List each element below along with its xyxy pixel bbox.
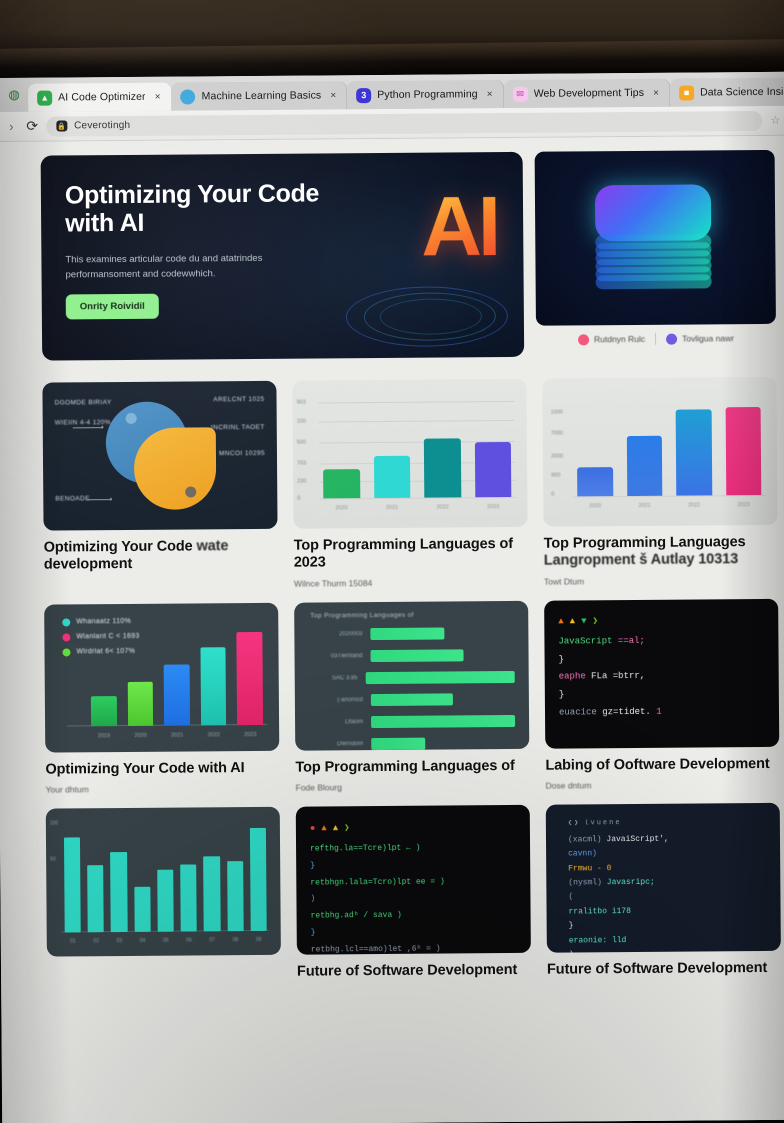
x-tick-label: 08 — [227, 937, 243, 943]
legend-label: Whanaatz 110% — [76, 618, 131, 625]
y-tick-label: 230 — [297, 478, 306, 484]
bar — [474, 442, 511, 497]
x-tick-label: 2022 — [676, 502, 712, 508]
bar — [203, 856, 220, 932]
legend-dot-icon — [578, 334, 589, 345]
bar — [366, 671, 515, 684]
stack-cube-graphic — [595, 184, 716, 281]
y-tick-label: 900 — [551, 472, 560, 478]
x-tick-label: 2021 — [164, 732, 190, 738]
hero-cta-button[interactable]: Onrity Roividil — [66, 294, 159, 320]
code-line: (xacml) JavaiScript', — [568, 832, 766, 848]
code-line: } — [311, 924, 517, 942]
close-icon[interactable]: × — [484, 89, 496, 100]
x-tick-label: 2023 — [238, 732, 264, 738]
close-icon[interactable]: × — [650, 87, 662, 98]
bar — [227, 861, 244, 931]
card-python-diagram[interactable]: DGOMDE BIRIAY WIEIIN 4-4 120% ARELCNT 10… — [42, 381, 278, 591]
bar-row: (-anorncd — [309, 693, 515, 708]
code-block: ●▲ ▲❯ refthg.la==Tcre)lpt ← ) } retbhgn.… — [296, 805, 531, 955]
chart-bars: 2020003 03Tlernland SAC 3.85 — [308, 627, 515, 751]
chart-bars — [577, 399, 762, 496]
bar-row: SAC 3.85 — [309, 671, 515, 686]
y-tick-label: Dferndom — [309, 741, 363, 747]
dark-legend-bar-chart: Whanaatz 110% Wlanlarit C < 1693 Wlrdrla… — [44, 603, 279, 753]
code-block: ▲▲ ▼❯ JavaScript ==al; } eaphe FLa =btrr… — [544, 599, 779, 749]
code-line: ) — [310, 890, 516, 908]
address-bar[interactable]: 🔒 Ceverotingh — [46, 110, 763, 136]
x-tick-label: 06 — [181, 938, 197, 944]
x-tick-labels: 2019 2020 2021 2022 2023 — [91, 732, 263, 739]
page-content: Optimizing Your Code with AI This examin… — [0, 136, 784, 1123]
tab-title: Machine Learning Basics — [202, 89, 322, 102]
bar — [91, 696, 117, 726]
x-tick-labels: 2020 2021 2022 2023 — [577, 502, 761, 509]
x-tick-label: 02 — [88, 938, 104, 944]
legend-dot-icon — [666, 333, 677, 344]
tab-machine-learning-basics[interactable]: Machine Learning Basics × — [172, 81, 348, 110]
code-line: retbhg.adʰ / sava ) — [311, 907, 517, 925]
legend-dot-icon — [62, 618, 70, 626]
annotation-label: INCRINL TAOET — [211, 423, 265, 433]
tab-data-science-insights[interactable]: ■ Data Science Insights — [670, 78, 784, 107]
tab-title: AI Code Optimizer — [58, 91, 146, 104]
chart-bars — [90, 627, 263, 726]
python-logo-icon — [104, 401, 217, 510]
y-tick-label: 50 — [50, 857, 56, 863]
y-tick-label: Lflaom — [309, 719, 363, 725]
window-dots-icon: ❮❯lvuene — [568, 816, 766, 830]
card-subtitle: Your dhtum — [46, 783, 280, 795]
x-tick-label: 2020 — [577, 503, 613, 509]
bar — [371, 694, 453, 707]
code-line: ( — [568, 889, 766, 905]
x-tick-label: 07 — [204, 937, 220, 943]
y-tick-label: 2000 — [551, 453, 563, 459]
chart-bars — [323, 401, 512, 498]
y-tick-label: 7000 — [551, 430, 563, 436]
legend-item: Whanaatz 110% — [62, 618, 139, 627]
teal-bar-chart: 100 50 — [46, 807, 281, 957]
hero-banner[interactable]: Optimizing Your Code with AI This examin… — [41, 152, 525, 361]
code-block: ❮❯lvuene (xacml) JavaiScript', cavnn) Fr… — [546, 803, 781, 953]
card-title: Optimizing Your Code with AI — [45, 760, 279, 779]
legend-dot-icon — [62, 633, 70, 641]
mail-pink-icon: ✉ — [513, 86, 528, 101]
code-line: eraonie: lld — [569, 932, 767, 948]
y-tick-label: 03Tlernland — [309, 653, 363, 659]
close-icon[interactable]: × — [327, 90, 339, 101]
y-tick-label: 500 — [297, 440, 306, 446]
light-bar-chart: 903 100 500 703 230 0 — [292, 379, 527, 529]
code-line: } — [569, 918, 767, 934]
green-code-snippet: ●▲ ▲❯ refthg.la==Tcre)lpt ← ) } retbhgn.… — [296, 805, 531, 955]
annotation-label: MNCOI 10295 — [219, 449, 265, 459]
bar — [676, 409, 712, 496]
y-tick-label: 1000 — [551, 409, 563, 415]
bar — [237, 632, 263, 725]
python-logo-diagram: DGOMDE BIRIAY WIEIIN 4-4 120% ARELCNT 10… — [42, 381, 277, 531]
article-grid: DGOMDE BIRIAY WIEIIN 4-4 120% ARELCNT 10… — [42, 377, 781, 983]
bookmark-star-icon[interactable]: ☆ — [770, 114, 780, 127]
card-title-main: Optimizing Your Code — [44, 538, 193, 555]
code-line: retbhg.lcl==amo)let ,6ʰ = ) — [311, 941, 517, 955]
lock-icon: 🔒 — [56, 120, 67, 131]
hero-row: Optimizing Your Code with AI This examin… — [41, 150, 777, 361]
reload-icon[interactable]: ⟳ — [26, 118, 38, 135]
card-horizontal-bar-chart[interactable]: Top Programming Languages of 2020003 03T… — [294, 601, 529, 793]
tab-web-development-tips[interactable]: ✉ Web Development Tips × — [504, 79, 671, 108]
browser-window: ◍ ▲ AI Code Optimizer × Machine Learning… — [0, 72, 784, 1123]
bar-row: 03Tlernland — [309, 649, 515, 664]
bar — [323, 469, 360, 498]
code-line: euacice gz=tidet. 1 — [559, 702, 765, 721]
hero-title: Optimizing Your Code with AI — [65, 179, 345, 237]
card-title — [47, 964, 281, 966]
tab-python-programming[interactable]: 3 Python Programming × — [347, 80, 504, 109]
x-tick-label: 01 — [65, 939, 81, 945]
x-tick-label: 05 — [158, 938, 174, 944]
x-tick-label: 04 — [134, 938, 150, 944]
tab-title: Data Science Insights — [700, 86, 784, 99]
chart-plot-area: 903 100 500 703 230 0 — [319, 401, 516, 499]
card-subtitle: Fode Blourg — [296, 781, 530, 793]
card-dark-bar-chart[interactable]: Whanaatz 110% Wlanlarit C < 1693 Wlrdrla… — [44, 603, 279, 795]
window-dots-icon: ▲▲ ▼❯ — [558, 612, 764, 631]
card-title: Top Programming Languages Langropment š … — [544, 534, 778, 571]
number-badge-icon: 3 — [356, 88, 371, 103]
code-line: eaphe FLa =btrr, — [559, 667, 765, 686]
tab-title: Web Development Tips — [534, 87, 644, 100]
card-teal-bar-chart[interactable]: 100 50 — [46, 807, 281, 983]
legend-dot-icon — [62, 648, 70, 656]
x-tick-label: 2021 — [374, 505, 411, 511]
bar — [111, 852, 128, 932]
y-tick-label: SAC 3.85 — [309, 675, 358, 681]
card-title: Optimizing Your Code wate development — [44, 538, 278, 575]
code-line: Frmwu - 0 — [568, 861, 766, 877]
side-card-legend: Rutdnyn Rulc Tovligua nawr — [536, 330, 776, 346]
bar — [200, 648, 226, 726]
extension-icon[interactable]: ◍ — [0, 78, 28, 112]
x-tick-labels: 2020 2021 2022 2023 — [323, 504, 511, 511]
legend-item: Rutdnyn Rulc — [578, 333, 645, 345]
hero-body: This examines articular code du and atat… — [65, 252, 280, 283]
code-line: JavaScript ==al; — [558, 632, 764, 651]
card-title: Future of Software Development — [547, 960, 781, 979]
bar-row: Dferndom — [309, 737, 515, 751]
card-title-fuzzy: Langropment š Autlay 10313 — [544, 552, 738, 570]
card-title-main: Top Programming Languages — [544, 534, 746, 552]
globe-blue-icon — [181, 89, 196, 104]
bar — [87, 865, 104, 932]
tab-ai-code-optimizer[interactable]: ▲ AI Code Optimizer × — [28, 83, 172, 112]
tab-title: Python Programming — [377, 88, 478, 101]
x-tick-label: 2023 — [726, 502, 762, 508]
bar — [725, 407, 761, 496]
bar — [127, 681, 153, 725]
y-tick-label: 703 — [297, 461, 306, 467]
card-subtitle: Dose dntum — [546, 779, 780, 791]
x-tick-label: 2019 — [91, 733, 117, 739]
x-tick-label: 2020 — [323, 505, 360, 511]
x-tick-label: 2022 — [201, 732, 227, 738]
code-line: (nysml) Javasripc; — [568, 875, 766, 891]
chart-title: Top Programming Languages of — [310, 611, 414, 619]
bar — [577, 467, 613, 496]
y-tick-label: 100 — [50, 821, 58, 827]
card-gradient-bar-chart[interactable]: 1000 7000 2000 900 0 — [542, 377, 778, 587]
code-line: cavnn) — [568, 846, 766, 862]
bar — [180, 865, 197, 932]
y-tick-label: 0 — [551, 492, 554, 498]
close-icon[interactable]: × — [152, 91, 164, 102]
chart-bars — [64, 823, 267, 933]
bar — [373, 456, 410, 499]
card-light-bar-chart[interactable]: 903 100 500 703 230 0 — [292, 379, 528, 589]
code-line: } — [310, 857, 516, 875]
ai-artwork: AI — [316, 162, 525, 354]
orange-badge-icon: ■ — [679, 85, 694, 100]
code-line: } — [559, 685, 765, 704]
card-title: Labing of Ooftware Development — [545, 756, 779, 775]
divider — [655, 333, 656, 345]
code-line: } — [559, 650, 765, 669]
x-tick-label: 2023 — [475, 504, 512, 510]
chart-plot-area: 1000 7000 2000 900 0 — [573, 399, 766, 497]
javascript-code-snippet: ▲▲ ▼❯ JavaScript ==al; } eaphe FLa =btrr… — [544, 599, 779, 749]
bar — [371, 715, 515, 728]
annotation-label: BENOADE — [55, 495, 90, 505]
bar — [370, 628, 444, 641]
bar — [134, 887, 151, 932]
bar-row: 2020003 — [308, 627, 514, 642]
y-tick-label: 2020003 — [308, 631, 362, 637]
bar — [424, 439, 461, 498]
legend-item: Tovligua nawr — [666, 333, 734, 345]
x-tick-label: 2022 — [424, 504, 461, 510]
card-title: Top Programming Languages of — [295, 758, 529, 777]
horizontal-bar-chart: Top Programming Languages of 2020003 03T… — [294, 601, 529, 751]
bar — [157, 869, 174, 932]
navy-code-snippet: ❮❯lvuene (xacml) JavaiScript', cavnn) Fr… — [546, 803, 781, 953]
legend-label: Rutdnyn Rulc — [594, 334, 645, 344]
bar — [164, 665, 190, 726]
x-tick-label: 09 — [251, 937, 267, 943]
y-tick-label: 100 — [297, 419, 306, 425]
x-tick-label: 2021 — [627, 503, 663, 509]
window-dots-icon: ●▲ ▲❯ — [310, 818, 516, 839]
gradient-bar-chart: 1000 7000 2000 900 0 — [542, 377, 777, 527]
code-line: rralitbo i178 — [569, 904, 767, 920]
url-text: Ceverotingh — [74, 120, 130, 131]
bar — [626, 435, 662, 496]
legend-label: Tovligua nawr — [682, 333, 734, 343]
card-subtitle: Towt Dtum — [544, 575, 778, 587]
card-javascript-code[interactable]: ▲▲ ▼❯ JavaScript ==al; } eaphe FLa =btrr… — [544, 599, 779, 791]
bar — [64, 837, 81, 932]
code-line: refthg.la==Tcre)lpt ← ) — [310, 840, 516, 858]
ai-letters-graphic: AI — [421, 184, 498, 269]
x-tick-label: 03 — [111, 938, 127, 944]
y-tick-label: 903 — [297, 400, 306, 406]
bar — [250, 827, 267, 931]
annotation-line — [73, 427, 103, 428]
forward-arrow-icon[interactable]: › — [4, 119, 18, 134]
bar-row: Lflaom — [309, 715, 515, 730]
card-green-code[interactable]: ●▲ ▲❯ refthg.la==Tcre)lpt ← ) } retbhgn.… — [296, 805, 531, 981]
x-tick-labels: 01 02 03 04 05 06 07 08 09 — [65, 937, 267, 945]
y-tick-label: (-anorncd — [309, 697, 363, 703]
y-tick-label: 0 — [297, 496, 300, 502]
card-title-fuzzy: wate — [196, 538, 228, 554]
side-card[interactable]: Rutdnyn Rulc Tovligua nawr — [535, 150, 777, 346]
card-title-line2: development — [44, 556, 132, 573]
code-line: retbhgn.lala=Tcro)lpt ee = ) — [310, 874, 516, 892]
bar — [371, 738, 425, 750]
card-title: Future of Software Development — [297, 962, 531, 981]
tab-strip: ◍ ▲ AI Code Optimizer × Machine Learning… — [0, 72, 784, 112]
card-title: Top Programming Languages of 2023 — [294, 536, 528, 573]
bar — [371, 650, 464, 663]
glowing-layered-stack-illustration — [535, 150, 776, 326]
card-subtitle: Wilnce Thurm 15084 — [294, 577, 528, 589]
triangle-green-icon: ▲ — [37, 90, 52, 105]
card-navy-code[interactable]: ❮❯lvuene (xacml) JavaiScript', cavnn) Fr… — [546, 803, 781, 979]
annotation-label: ARELCNT 1025 — [213, 395, 264, 405]
monitor-bezel — [0, 0, 784, 78]
photographed-monitor: ◍ ▲ AI Code Optimizer × Machine Learning… — [0, 0, 784, 1123]
x-tick-label: 2020 — [128, 733, 154, 739]
